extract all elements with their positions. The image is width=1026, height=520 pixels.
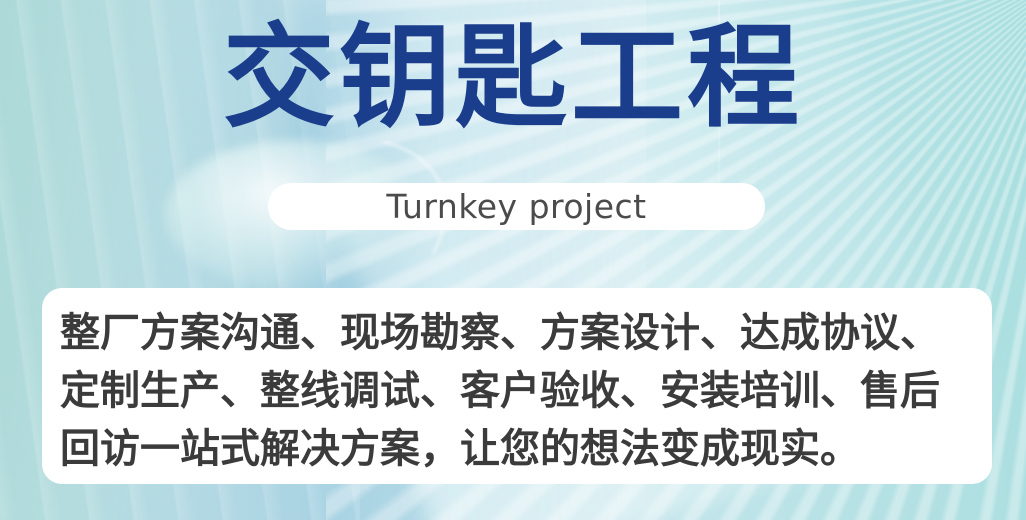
- subtitle-text: Turnkey project: [386, 190, 646, 223]
- description-line: 定制生产、整线调试、客户验收、安装培训、售后: [60, 362, 974, 420]
- description-line: 回访一站式解决方案，让您的想法变成现实。: [60, 420, 974, 478]
- description-text: 整厂方案沟通、现场勘察、方案设计、达成协议、 定制生产、整线调试、客户验收、安装…: [60, 304, 974, 478]
- headline-title: 交钥匙工程: [0, 16, 1026, 141]
- description-line: 整厂方案沟通、现场勘察、方案设计、达成协议、: [60, 304, 974, 362]
- subtitle-pill: Turnkey project: [268, 183, 765, 230]
- banner-content: 交钥匙工程 Turnkey project 整厂方案沟通、现场勘察、方案设计、达…: [0, 0, 1026, 520]
- turnkey-project-banner: 交钥匙工程 Turnkey project 整厂方案沟通、现场勘察、方案设计、达…: [0, 0, 1026, 520]
- description-card: 整厂方案沟通、现场勘察、方案设计、达成协议、 定制生产、整线调试、客户验收、安装…: [42, 288, 992, 484]
